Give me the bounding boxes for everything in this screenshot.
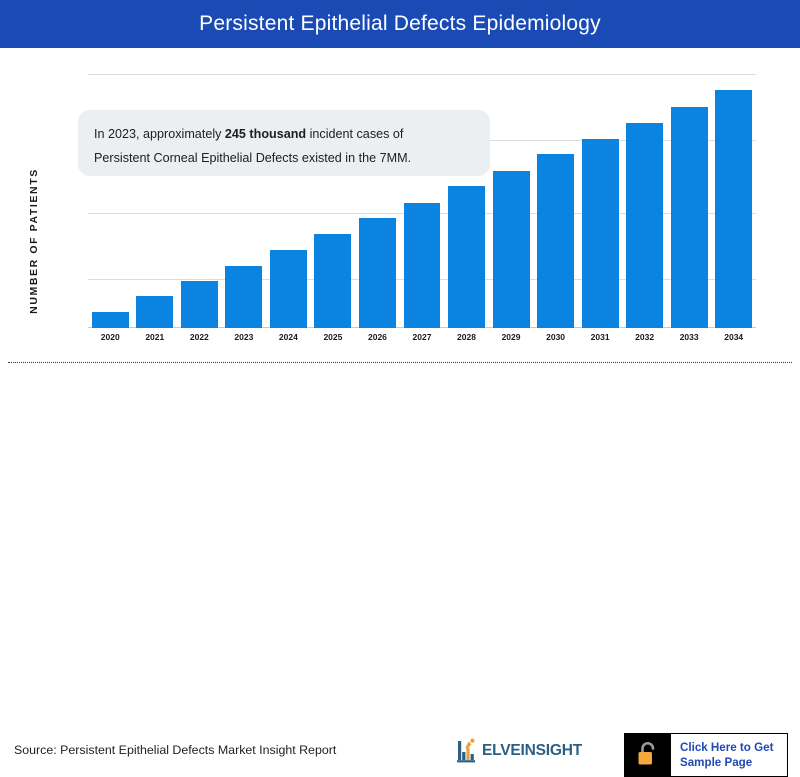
chart-area: NUMBER OF PATIENTS 202020212022202320242… <box>0 48 800 360</box>
bar-2033[interactable] <box>671 107 708 328</box>
bar-slot <box>400 60 445 328</box>
bar-2029[interactable] <box>493 171 530 328</box>
bar-slot <box>533 60 578 328</box>
cta-line-1: Click Here to Get <box>680 740 773 755</box>
x-axis-label-2021: 2021 <box>133 332 178 342</box>
bar-series <box>88 60 756 328</box>
page-title: Persistent Epithelial Defects Epidemiolo… <box>199 12 601 36</box>
bar-2028[interactable] <box>448 186 485 328</box>
bar-slot <box>266 60 311 328</box>
bar-slot <box>622 60 667 328</box>
x-axis-label-2029: 2029 <box>489 332 534 342</box>
x-axis-label-2034: 2034 <box>711 332 756 342</box>
open-padlock-icon <box>635 741 661 769</box>
bar-2023[interactable] <box>225 266 262 328</box>
x-axis-label-2020: 2020 <box>88 332 133 342</box>
bar-slot <box>711 60 756 328</box>
bar-slot <box>355 60 400 328</box>
x-axis-label-2032: 2032 <box>622 332 667 342</box>
unlock-icon <box>625 734 671 776</box>
callout-line-2: Persistent Corneal Epithelial Defects ex… <box>94 146 474 170</box>
x-axis-label-2022: 2022 <box>177 332 222 342</box>
cta-line-2: Sample Page <box>680 755 752 770</box>
bar-2031[interactable] <box>582 139 619 328</box>
page-footer: Source: Persistent Epithelial Defects Ma… <box>0 363 800 420</box>
x-axis-label-2023: 2023 <box>222 332 267 342</box>
x-axis-label-2024: 2024 <box>266 332 311 342</box>
bar-2034[interactable] <box>715 90 752 328</box>
callout-text-bold: 245 thousand <box>225 127 306 141</box>
get-sample-page-button[interactable]: Click Here to Get Sample Page <box>624 733 788 777</box>
x-axis-label-2030: 2030 <box>533 332 578 342</box>
x-axis-label-2028: 2028 <box>444 332 489 342</box>
bar-2021[interactable] <box>136 296 173 328</box>
bar-slot <box>578 60 623 328</box>
callout-text-pre: In 2023, approximately <box>94 127 225 141</box>
bar-2025[interactable] <box>314 234 351 328</box>
x-axis-label-2033: 2033 <box>667 332 712 342</box>
bar-slot <box>133 60 178 328</box>
bar-slot <box>177 60 222 328</box>
x-axis-label-2025: 2025 <box>311 332 356 342</box>
bar-slot <box>444 60 489 328</box>
delveinsight-logo-text: ELVEINSIGHT <box>482 742 582 760</box>
x-axis-label-2026: 2026 <box>355 332 400 342</box>
bar-2022[interactable] <box>181 281 218 328</box>
bar-slot <box>88 60 133 328</box>
logo-bars-icon <box>456 738 482 764</box>
delveinsight-logo-icon <box>456 738 482 764</box>
y-axis-label-text: NUMBER OF PATIENTS <box>28 168 40 314</box>
x-axis-labels: 2020202120222023202420252026202720282029… <box>88 332 756 342</box>
y-axis-title: NUMBER OF PATIENTS <box>22 156 46 326</box>
bar-slot <box>311 60 356 328</box>
callout-box: In 2023, approximately 245 thousand inci… <box>78 110 490 176</box>
bar-2024[interactable] <box>270 250 307 328</box>
x-axis-label-2031: 2031 <box>578 332 623 342</box>
bar-2027[interactable] <box>404 203 441 328</box>
delveinsight-logo: ELVEINSIGHT <box>456 737 583 765</box>
bar-2020[interactable] <box>92 312 129 328</box>
callout-text-post: incident cases of <box>306 127 403 141</box>
source-caption: Source: Persistent Epithelial Defects Ma… <box>14 743 336 757</box>
bar-slot <box>222 60 267 328</box>
page-header: Persistent Epithelial Defects Epidemiolo… <box>0 0 800 48</box>
infographic-page: Persistent Epithelial Defects Epidemiolo… <box>0 0 800 420</box>
bar-slot <box>667 60 712 328</box>
cta-text-block: Click Here to Get Sample Page <box>671 734 787 776</box>
x-axis-label-2027: 2027 <box>400 332 445 342</box>
bar-2032[interactable] <box>626 123 663 328</box>
bar-slot <box>489 60 534 328</box>
bar-2026[interactable] <box>359 218 396 328</box>
bar-2030[interactable] <box>537 154 574 328</box>
plot-area <box>88 60 756 328</box>
callout-line-1: In 2023, approximately 245 thousand inci… <box>94 122 474 146</box>
